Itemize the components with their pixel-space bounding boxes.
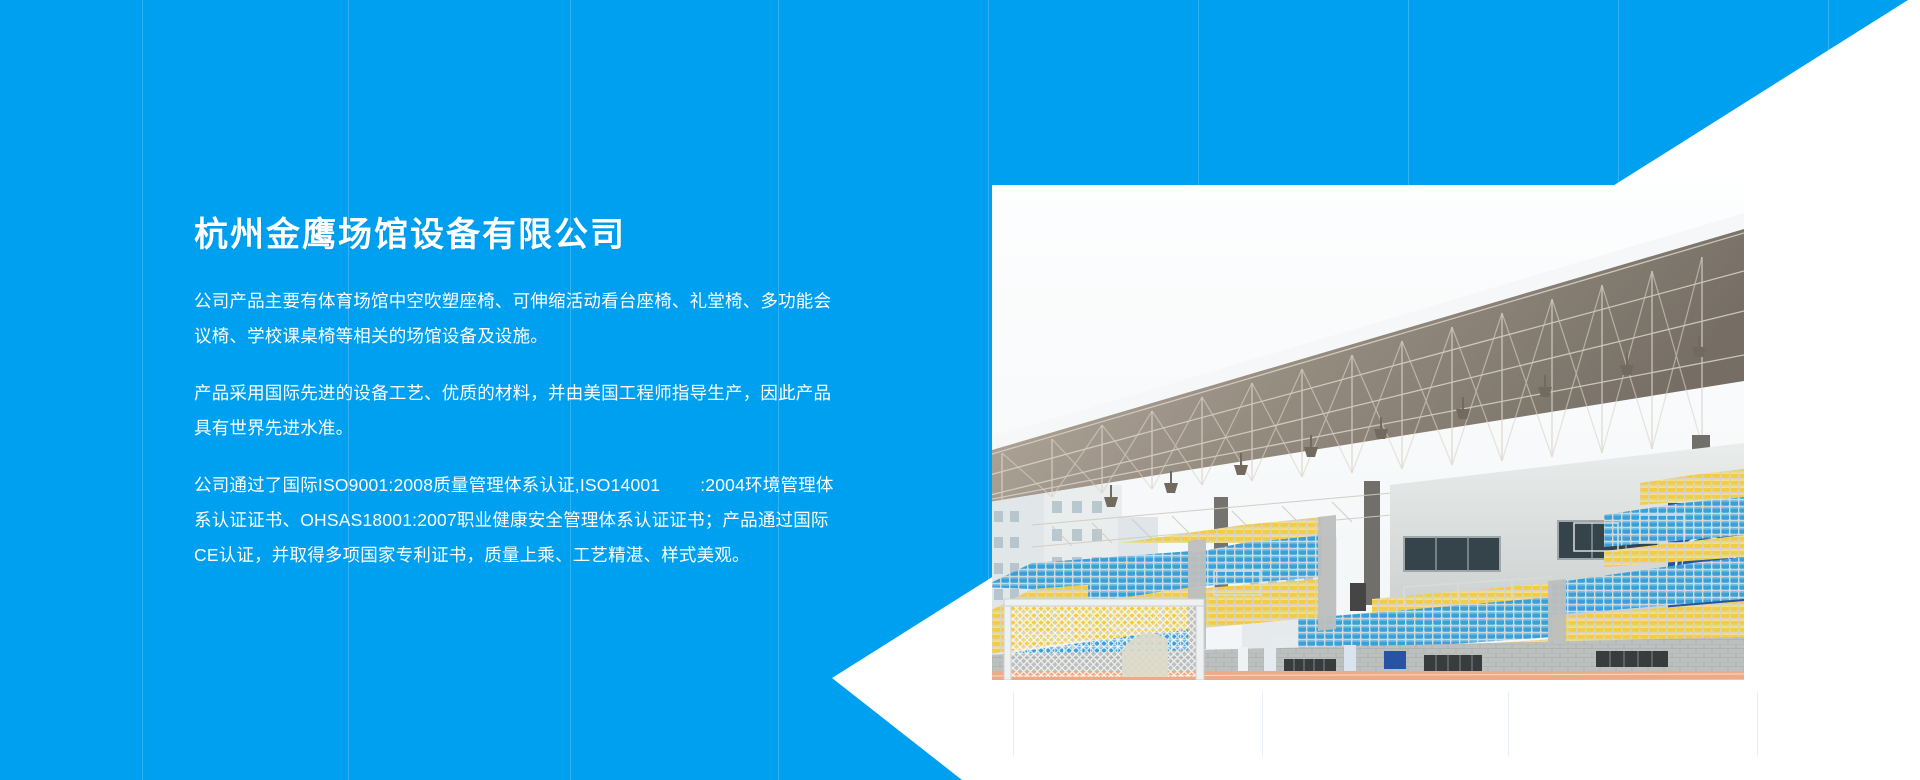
gridline-on-white: [1262, 692, 1263, 756]
gridline-on-white: [1013, 692, 1014, 756]
intro-paragraph-quality: 产品采用国际先进的设备工艺、优质的材料，并由美国工程师指导生产，因此产品具有世界…: [194, 376, 834, 446]
gridline-on-white: [1757, 692, 1758, 756]
hero-text-block: 杭州金鹰场馆设备有限公司 公司产品主要有体育场馆中空吹塑座椅、可伸缩活动看台座椅…: [194, 215, 834, 573]
hero-banner: 杭州金鹰场馆设备有限公司 公司产品主要有体育场馆中空吹塑座椅、可伸缩活动看台座椅…: [0, 0, 1920, 780]
gridline-on-white: [1508, 692, 1509, 756]
gridline: [1828, 0, 1829, 780]
intro-paragraph-certifications: 公司通过了国际ISO9001:2008质量管理体系认证,ISO14001:200…: [194, 468, 834, 573]
intro-paragraph-products: 公司产品主要有体育场馆中空吹塑座椅、可伸缩活动看台座椅、礼堂椅、多功能会议椅、学…: [194, 284, 834, 354]
page-title: 杭州金鹰场馆设备有限公司: [194, 215, 834, 256]
stadium-photo-image: 100: [992, 185, 1744, 680]
stadium-photo: 100: [992, 185, 1744, 680]
certification-text-part1: 公司通过了国际ISO9001:2008质量管理体系认证,ISO14001: [194, 475, 660, 495]
